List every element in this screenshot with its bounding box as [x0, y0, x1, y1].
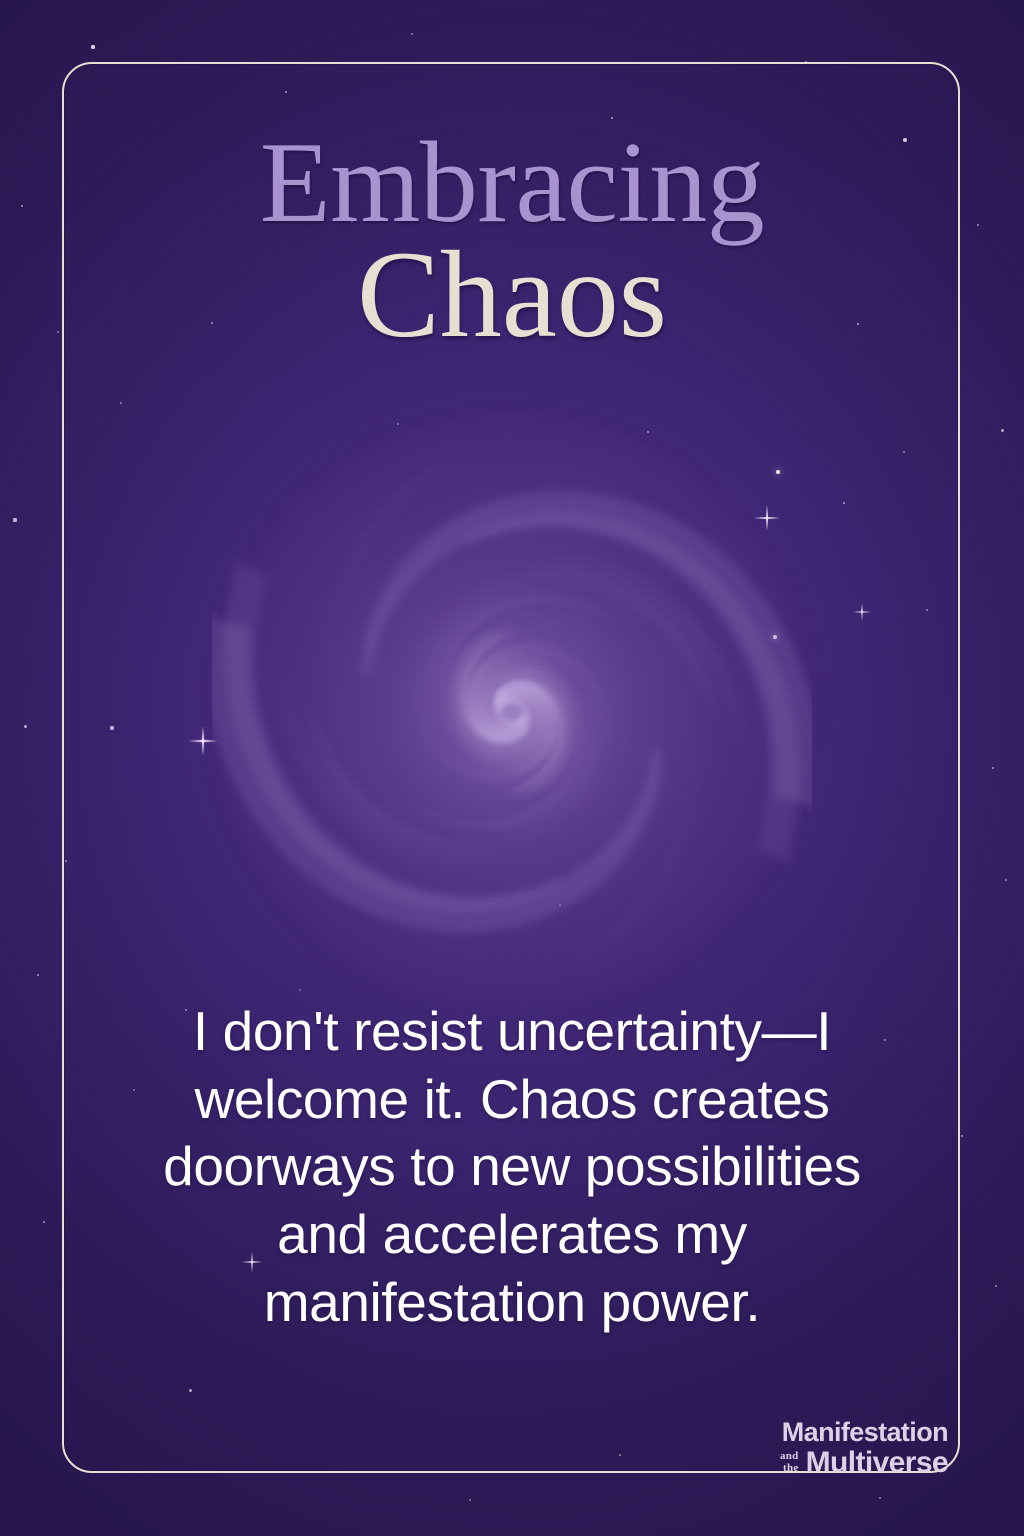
brand-logo[interactable]: Manifestation and the Multiverse: [780, 1419, 948, 1478]
title-line-chaos: Chaos: [0, 233, 1024, 357]
logo-word-multiverse: Multiverse: [806, 1448, 948, 1478]
affirmation-poster: Embracing Chaos I don't resist uncertain…: [0, 0, 1024, 1536]
logo-word-the: the: [780, 1463, 799, 1475]
poster-title: Embracing Chaos: [0, 128, 1024, 357]
logo-second-row: and the Multiverse: [780, 1448, 948, 1478]
logo-word-manifestation: Manifestation: [780, 1419, 948, 1446]
logo-and-the: and the: [780, 1451, 799, 1478]
title-line-embracing: Embracing: [0, 128, 1024, 239]
affirmation-text: I don't resist uncertainty—I welcome it.…: [140, 998, 884, 1336]
